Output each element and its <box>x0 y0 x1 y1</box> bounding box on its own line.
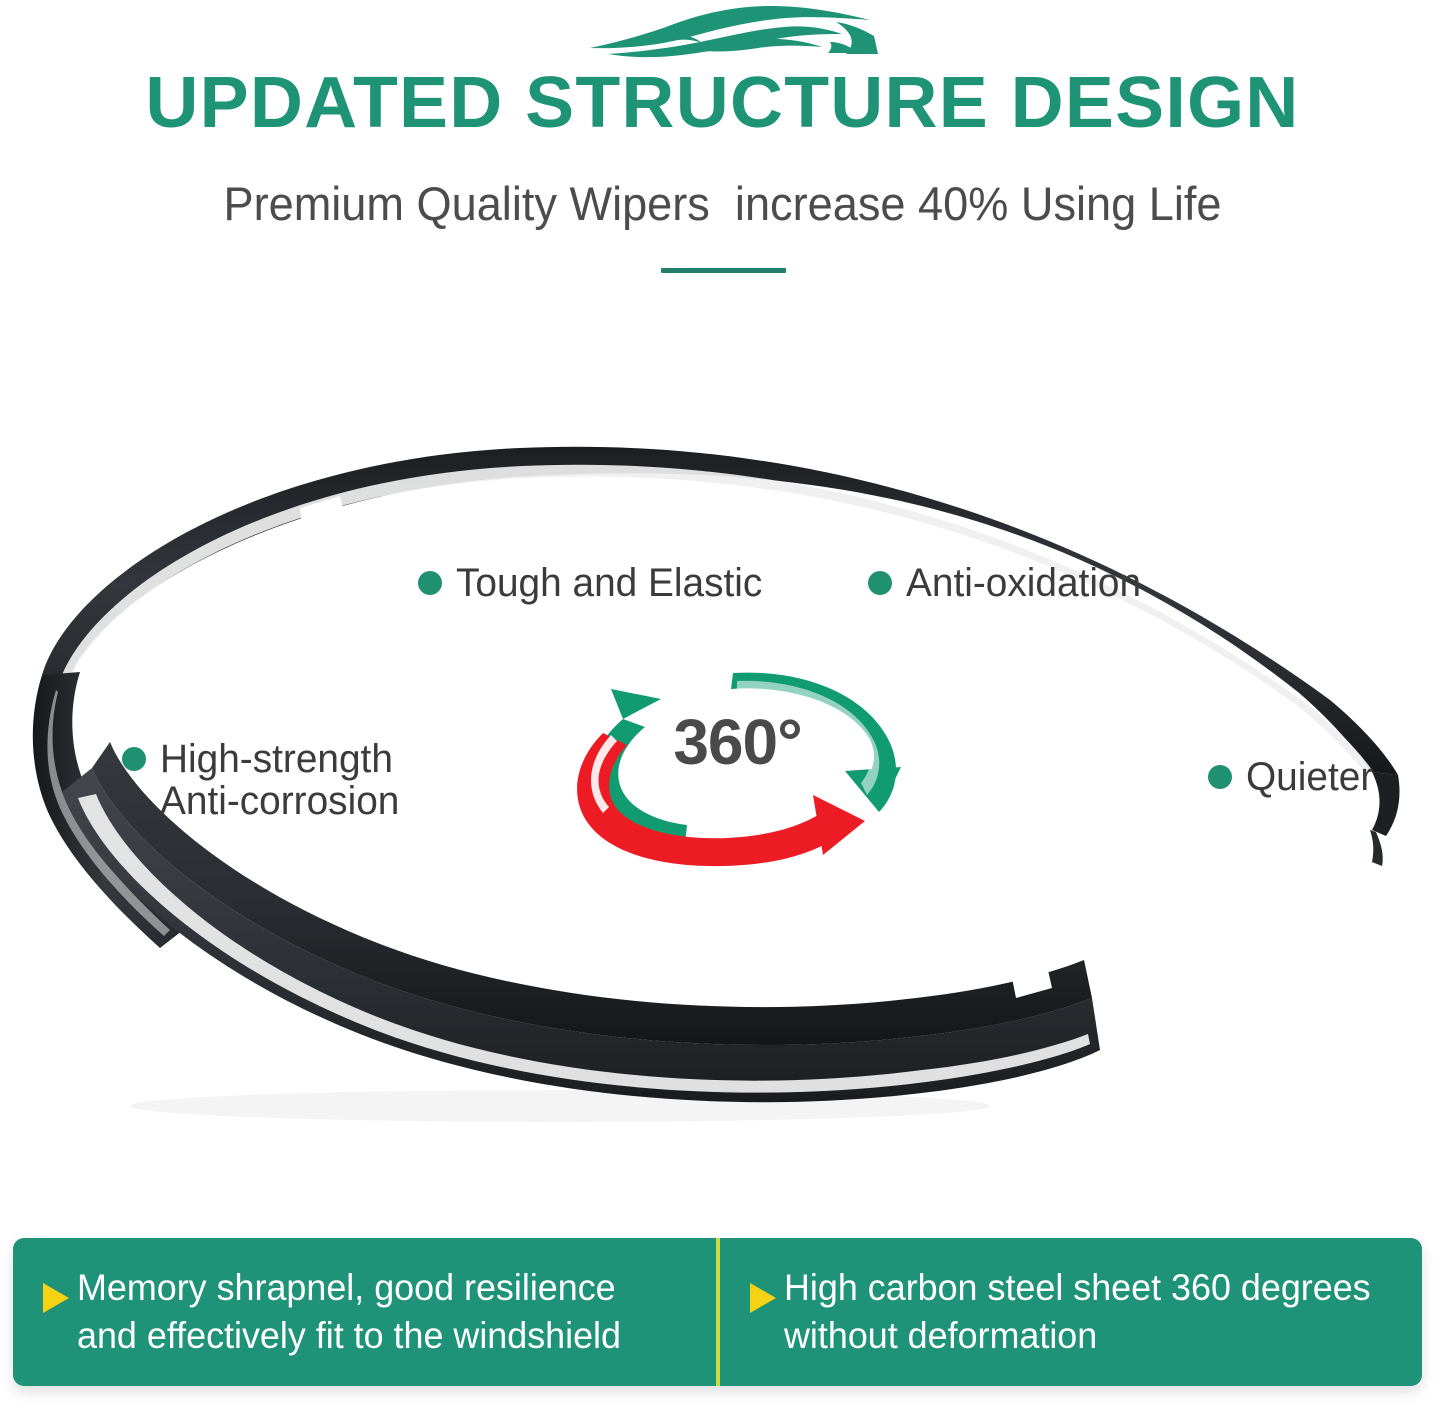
page-subtitle: Premium Quality Wipers increase 40% Usin… <box>29 176 1416 232</box>
benefit-item-high-carbon-steel: High carbon steel sheet 360 degrees with… <box>716 1238 1423 1386</box>
car-silhouette-icon <box>578 2 884 60</box>
bullet-dot-icon <box>1208 765 1232 789</box>
benefit-text: High carbon steel sheet 360 degrees with… <box>784 1264 1371 1360</box>
title-divider <box>661 268 786 273</box>
benefits-bar: Memory shrapnel, good resilience and eff… <box>13 1238 1422 1386</box>
play-triangle-icon <box>750 1283 776 1313</box>
rotate-360-arrows-icon: 360° <box>565 655 910 870</box>
feature-label: Tough and Elastic <box>456 562 762 604</box>
play-triangle-icon <box>43 1283 69 1313</box>
bullet-dot-icon <box>868 571 892 595</box>
feature-callout-quieter: Quieter <box>1208 756 1377 798</box>
page-title: UPDATED STRUCTURE DESIGN <box>0 62 1445 144</box>
feature-label: Anti-oxidation <box>906 562 1141 604</box>
bullet-dot-icon <box>122 747 146 771</box>
feature-label: Quieter <box>1246 756 1373 798</box>
feature-callout-tough-and-elastic: Tough and Elastic <box>418 562 772 604</box>
feature-label: High-strength Anti-corrosion <box>160 738 399 822</box>
bullet-dot-icon <box>418 571 442 595</box>
feature-callout-anti-oxidation: Anti-oxidation <box>868 562 1148 604</box>
product-infographic: UPDATED STRUCTURE DESIGN Premium Quality… <box>0 0 1445 1421</box>
benefit-item-memory-shrapnel: Memory shrapnel, good resilience and eff… <box>13 1238 716 1386</box>
badge-360-label: 360° <box>565 710 910 774</box>
feature-callout-high-strength-anti-corrosion: High-strength Anti-corrosion <box>122 738 407 822</box>
benefit-text: Memory shrapnel, good resilience and eff… <box>77 1264 621 1360</box>
